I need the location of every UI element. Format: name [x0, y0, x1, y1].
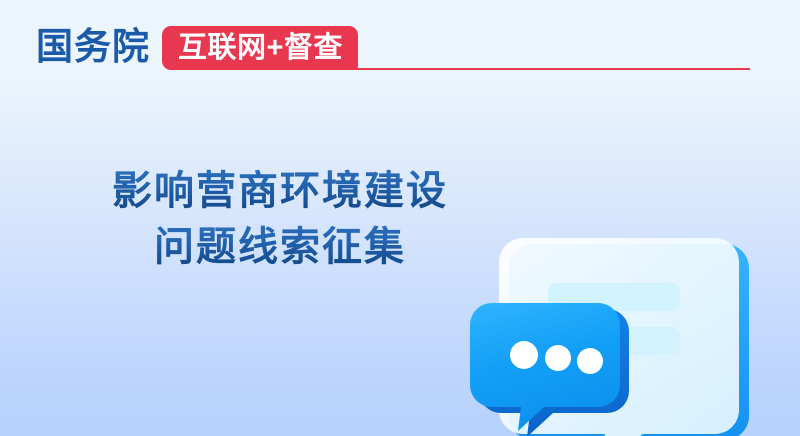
campaign-badge: 互联网+督查	[162, 26, 358, 70]
campaign-banner: 国务院 互联网+督查 影响营商环境建设 问题线索征集	[0, 0, 800, 436]
chat-bubbles-illustration	[470, 205, 800, 436]
header-divider-rule	[340, 68, 750, 70]
banner-header: 国务院 互联网+督查	[0, 0, 800, 92]
campaign-badge-label: 互联网+督查	[178, 26, 343, 70]
typing-dot	[545, 345, 571, 371]
gov-name-label: 国务院	[36, 25, 150, 69]
typing-dot	[577, 348, 603, 374]
typing-dot	[510, 341, 538, 369]
chat-bubbles-svg	[470, 205, 800, 436]
